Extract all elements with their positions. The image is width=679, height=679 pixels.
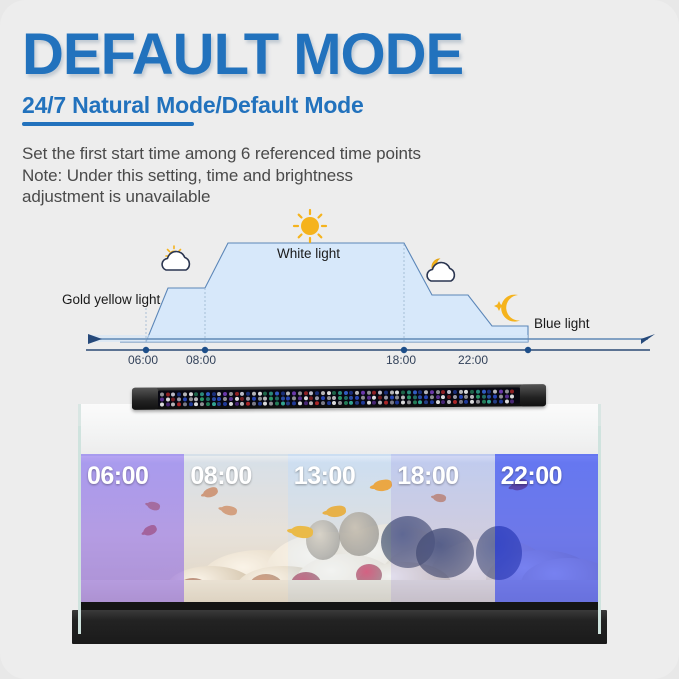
tick-label-0600: 06:00 [128, 353, 158, 367]
led-dot [212, 397, 216, 401]
led-dot [304, 401, 308, 405]
led-dot [275, 397, 279, 401]
led-dot [464, 400, 468, 404]
led-dot [166, 392, 170, 396]
led-dot [246, 392, 250, 396]
page-subtitle: 24/7 Natural Mode/Default Mode [22, 92, 662, 119]
led-dot [200, 392, 204, 396]
led-dot [281, 391, 285, 395]
led-dot [482, 390, 486, 394]
led-dot [441, 390, 445, 394]
led-dot [436, 395, 440, 399]
time-panel-1800: 18:00 [391, 454, 494, 602]
led-dot [263, 392, 267, 396]
led-dot [424, 395, 428, 399]
led-dot [361, 401, 365, 405]
led-dot [418, 390, 422, 394]
time-panel-2200: 22:00 [495, 454, 598, 602]
led-dot [378, 396, 382, 400]
tank-stand [72, 610, 607, 644]
led-dot [263, 397, 267, 401]
title-divider [22, 122, 194, 126]
led-dot [361, 391, 365, 395]
moon-behind-cloud-icon [427, 259, 454, 281]
led-dot [493, 395, 497, 399]
led-dot [355, 396, 359, 400]
led-dot [258, 402, 262, 406]
led-dot [367, 401, 371, 405]
led-dot [200, 397, 204, 401]
label-gold-yellow-light: Gold yellow light [62, 292, 160, 307]
led-dot [487, 390, 491, 394]
led-dot [372, 391, 376, 395]
led-dot [395, 395, 399, 399]
led-dot [470, 395, 474, 399]
led-dot [482, 395, 486, 399]
led-dot [453, 395, 457, 399]
led-dot [258, 397, 262, 401]
header: DEFAULT MODE 24/7 Natural Mode/Default M… [22, 24, 662, 119]
led-dot [349, 391, 353, 395]
led-dot [321, 396, 325, 400]
description-line-2: Note: Under this setting, time and brigh… [22, 165, 622, 187]
led-dot [166, 397, 170, 401]
led-dot [487, 395, 491, 399]
led-dot [378, 391, 382, 395]
led-dot [229, 392, 233, 396]
time-panel-0800: 08:00 [184, 454, 287, 602]
led-dot [200, 402, 204, 406]
led-dot [292, 391, 296, 395]
led-dot [160, 403, 164, 407]
led-dot [206, 402, 210, 406]
led-dot [194, 397, 198, 401]
led-dot [344, 391, 348, 395]
led-dot [355, 391, 359, 395]
led-dot [505, 400, 509, 404]
glass-tank: 06:0008:0013:0018:0022:00 [78, 404, 601, 622]
led-dot [355, 401, 359, 405]
led-dot [384, 396, 388, 400]
led-dot [177, 402, 181, 406]
time-panel-1300: 13:00 [288, 454, 391, 602]
sun-icon [294, 210, 326, 242]
led-dot [418, 400, 422, 404]
led-dot [194, 392, 198, 396]
led-dot [269, 392, 273, 396]
led-dot [349, 396, 353, 400]
page-root: DEFAULT MODE 24/7 Natural Mode/Default M… [0, 0, 679, 679]
led-dot [441, 400, 445, 404]
led-dot [464, 395, 468, 399]
led-dot [309, 391, 313, 395]
time-panel-label: 22:00 [501, 462, 562, 491]
led-dot [378, 401, 382, 405]
led-dot [361, 396, 365, 400]
led-dot [292, 401, 296, 405]
led-dot [499, 395, 503, 399]
led-dot [493, 400, 497, 404]
led-dot [407, 400, 411, 404]
led-dot [263, 402, 267, 406]
led-dot [240, 397, 244, 401]
led-array [158, 387, 520, 406]
led-dot [367, 396, 371, 400]
led-dot [487, 400, 491, 404]
led-dot [235, 392, 239, 396]
led-dot [418, 395, 422, 399]
led-dot [413, 400, 417, 404]
tick-label-1800: 18:00 [386, 353, 416, 367]
led-dot [395, 390, 399, 394]
led-dot [223, 392, 227, 396]
led-dot [246, 402, 250, 406]
led-dot [499, 390, 503, 394]
sun-behind-cloud-icon [162, 246, 189, 270]
led-dot [327, 391, 331, 395]
led-dot [315, 401, 319, 405]
led-dot [349, 401, 353, 405]
led-dot [292, 396, 296, 400]
led-dot [436, 390, 440, 394]
led-dot [413, 390, 417, 394]
led-dot [298, 401, 302, 405]
led-dot [424, 400, 428, 404]
led-dot [367, 391, 371, 395]
led-dot [189, 397, 193, 401]
led-dot [470, 400, 474, 404]
led-dot [395, 400, 399, 404]
led-dot [235, 402, 239, 406]
led-dot [338, 396, 342, 400]
crescent-moon-icon [494, 295, 520, 322]
led-dot [212, 402, 216, 406]
led-dot [401, 395, 405, 399]
led-dot [223, 402, 227, 406]
chart-svg [0, 198, 679, 370]
led-dot [510, 394, 514, 398]
led-dot [252, 402, 256, 406]
led-dot [298, 391, 302, 395]
led-dot [240, 402, 244, 406]
led-dot [315, 396, 319, 400]
led-dot [413, 395, 417, 399]
led-dot [459, 390, 463, 394]
light-bracket-right [520, 384, 546, 406]
led-dot [344, 396, 348, 400]
led-dot [212, 392, 216, 396]
led-dot [459, 400, 463, 404]
led-dot [275, 402, 279, 406]
led-dot [160, 393, 164, 397]
tick-label-0800: 08:00 [186, 353, 216, 367]
light-schedule-chart: Gold yellow light White light Blue light… [0, 198, 679, 370]
led-dot [372, 401, 376, 405]
led-light-bar [132, 384, 546, 410]
led-dot [447, 395, 451, 399]
led-dot [309, 401, 313, 405]
led-dot [510, 399, 514, 403]
led-dot [240, 392, 244, 396]
led-dot [252, 397, 256, 401]
led-dot [223, 397, 227, 401]
led-dot [453, 400, 457, 404]
time-panel-label: 18:00 [397, 462, 458, 491]
led-dot [441, 395, 445, 399]
axis-arrow-right [641, 334, 655, 344]
led-dot [229, 397, 233, 401]
led-dot [476, 400, 480, 404]
led-dot [327, 401, 331, 405]
led-dot [183, 397, 187, 401]
description-line-1: Set the first start time among 6 referen… [22, 143, 622, 165]
led-dot [384, 401, 388, 405]
aquarium-illustration: 06:0008:0013:0018:0022:00 [78, 382, 601, 644]
led-dot [470, 390, 474, 394]
led-dot [407, 390, 411, 394]
label-blue-light: Blue light [534, 316, 590, 331]
led-dot [286, 396, 290, 400]
led-dot [505, 390, 509, 394]
led-dot [298, 396, 302, 400]
led-dot [171, 392, 175, 396]
led-dot [183, 402, 187, 406]
led-dot [493, 390, 497, 394]
page-title: DEFAULT MODE [22, 24, 662, 86]
led-dot [321, 391, 325, 395]
led-dot [246, 397, 250, 401]
led-dot [189, 402, 193, 406]
led-dot [206, 392, 210, 396]
light-bracket-left [132, 388, 158, 410]
led-dot [269, 402, 273, 406]
led-dot [304, 391, 308, 395]
led-dot [194, 402, 198, 406]
led-dot [177, 397, 181, 401]
led-dot [332, 396, 336, 400]
led-dot [286, 401, 290, 405]
led-dot [407, 395, 411, 399]
led-dot [315, 391, 319, 395]
led-dot [321, 401, 325, 405]
led-dot [453, 390, 457, 394]
tick-dot-end [525, 347, 531, 353]
led-dot [401, 400, 405, 404]
led-dot [384, 391, 388, 395]
led-dot [447, 400, 451, 404]
led-dot [401, 390, 405, 394]
led-dot [510, 389, 514, 393]
led-dot [183, 392, 187, 396]
led-dot [447, 390, 451, 394]
led-dot [390, 396, 394, 400]
led-dot [476, 390, 480, 394]
led-dot [177, 392, 181, 396]
led-dot [281, 401, 285, 405]
led-dot [338, 401, 342, 405]
led-dot [229, 402, 233, 406]
led-dot [160, 398, 164, 402]
led-dot [390, 401, 394, 405]
led-dot [304, 396, 308, 400]
led-dot [269, 397, 273, 401]
led-dot [430, 390, 434, 394]
led-dot [286, 391, 290, 395]
label-white-light: White light [277, 246, 340, 261]
led-dot [281, 396, 285, 400]
led-dot [390, 391, 394, 395]
led-dot [338, 391, 342, 395]
led-dot [499, 400, 503, 404]
tank-rim [78, 404, 601, 456]
led-dot [372, 396, 376, 400]
led-dot [505, 395, 509, 399]
led-dot [217, 402, 221, 406]
led-dot [189, 392, 193, 396]
led-dot [171, 397, 175, 401]
led-dot [217, 392, 221, 396]
led-dot [344, 401, 348, 405]
led-dot [206, 397, 210, 401]
led-dot [430, 400, 434, 404]
time-panel-label: 13:00 [294, 462, 355, 491]
led-dot [459, 395, 463, 399]
led-dot [258, 392, 262, 396]
led-dot [430, 395, 434, 399]
led-dot [482, 400, 486, 404]
led-dot [424, 390, 428, 394]
led-dot [171, 402, 175, 406]
tank-water-scene: 06:0008:0013:0018:0022:00 [81, 454, 598, 602]
led-dot [332, 401, 336, 405]
led-dot [327, 396, 331, 400]
led-dot [166, 402, 170, 406]
led-dot [235, 397, 239, 401]
time-panel-label: 08:00 [190, 462, 251, 491]
led-dot [436, 400, 440, 404]
led-dot [217, 397, 221, 401]
led-dot [252, 392, 256, 396]
time-panel-label: 06:00 [87, 462, 148, 491]
led-dot [464, 390, 468, 394]
tick-label-2200: 22:00 [458, 353, 488, 367]
led-dot [275, 392, 279, 396]
time-panel-0600: 06:00 [81, 454, 184, 602]
led-dot [332, 391, 336, 395]
led-dot [309, 396, 313, 400]
led-dot [476, 395, 480, 399]
